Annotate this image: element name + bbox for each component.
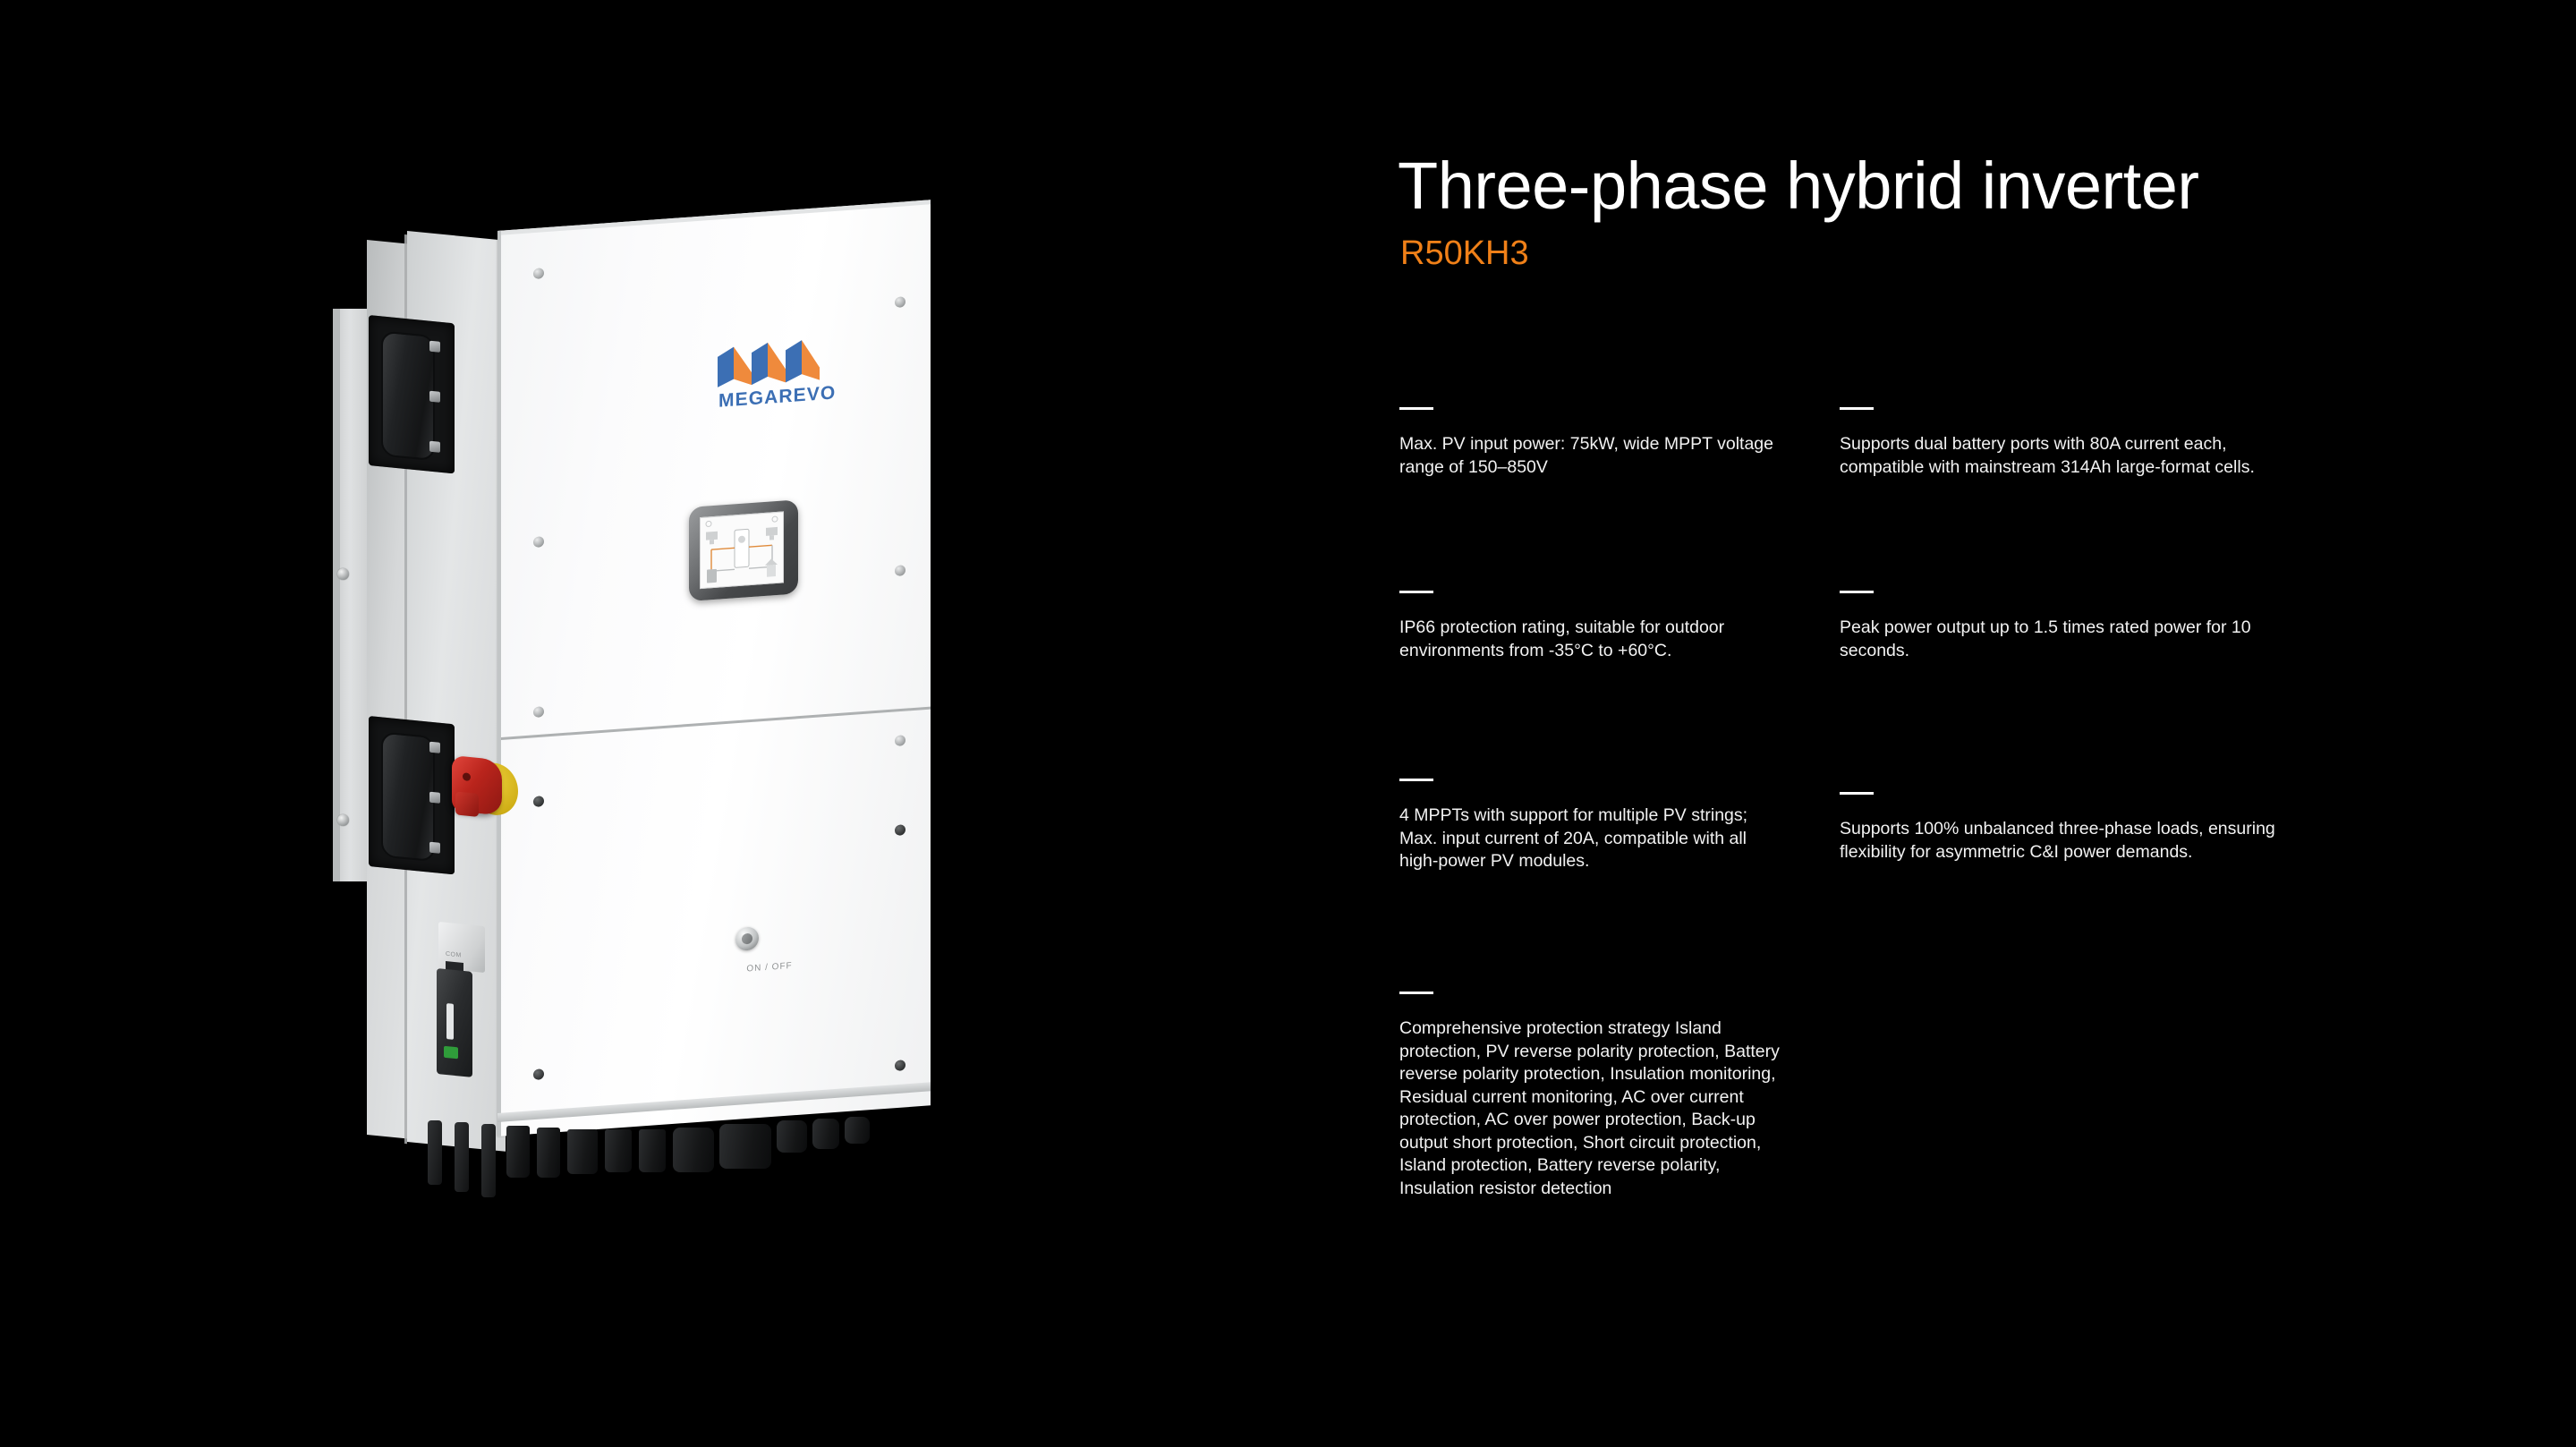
- cable-gland-large: [673, 1128, 714, 1172]
- feature-item-peak-power-output: Peak power output up to 1.5 times rated …: [1840, 591, 2296, 662]
- system-diagram-icon: [701, 512, 783, 588]
- feature-text: Peak power output up to 1.5 times rated …: [1840, 617, 2296, 662]
- handle-screw: [429, 391, 440, 403]
- carry-handle-lower: [369, 716, 455, 874]
- cable-gland: [506, 1126, 530, 1178]
- feature-item-dual-battery-ports: Supports dual battery ports with 80A cur…: [1840, 407, 2296, 479]
- handle-screw: [429, 792, 440, 804]
- lcd-display-screen: [700, 511, 784, 589]
- cable-gland: [639, 1129, 666, 1172]
- isolator-knob[interactable]: [452, 755, 502, 815]
- com-port-label: COM: [446, 951, 462, 959]
- enclosure-front-panel: [497, 200, 931, 1136]
- feature-text: Supports dual battery ports with 80A cur…: [1840, 433, 2296, 479]
- cable-gland: [567, 1129, 598, 1174]
- mc4-connector: [428, 1120, 442, 1185]
- power-button-inner: [742, 933, 752, 945]
- cable-gland-row: [421, 1113, 957, 1221]
- cable-gland: [845, 1117, 870, 1144]
- handle-screw: [429, 842, 440, 854]
- flange-bolt: [337, 814, 349, 826]
- dc-isolator-switch[interactable]: [452, 752, 516, 828]
- feature-divider: [1399, 992, 1433, 994]
- feature-divider: [1840, 591, 1874, 593]
- megarevo-logo: MEGAREVO: [716, 336, 841, 414]
- handle-screw: [429, 742, 440, 753]
- feature-item-unbalanced-loads: Supports 100% unbalanced three-phase loa…: [1840, 792, 2296, 864]
- cable-gland: [537, 1128, 560, 1178]
- isolator-lever: [455, 791, 479, 817]
- handle-screw: [429, 441, 440, 453]
- feature-divider: [1399, 591, 1433, 593]
- handle-screw: [429, 341, 440, 353]
- feature-item-ip66-protection: IP66 protection rating, suitable for out…: [1399, 591, 1786, 662]
- feature-item-pv-input-power: Max. PV input power: 75kW, wide MPPT vol…: [1399, 407, 1786, 479]
- feature-text: Max. PV input power: 75kW, wide MPPT vol…: [1399, 433, 1786, 479]
- handle-grip: [381, 330, 435, 461]
- product-image: MEGAREVO: [0, 0, 1378, 1447]
- status-led-indicator: [444, 1046, 458, 1060]
- cable-gland: [605, 1129, 632, 1172]
- feature-divider: [1399, 779, 1433, 781]
- feature-text: Comprehensive protection strategy Island…: [1399, 1017, 1786, 1200]
- mc4-connector: [481, 1124, 496, 1197]
- cable-gland: [812, 1119, 839, 1149]
- content-pane: Three-phase hybrid inverter R50KH3 Max. …: [1378, 0, 2576, 1447]
- handle-grip: [381, 731, 435, 862]
- feature-list: Max. PV input power: 75kW, wide MPPT vol…: [1378, 0, 2576, 1447]
- feature-divider: [1840, 792, 1874, 795]
- cable-gland-large: [719, 1124, 771, 1169]
- feature-item-four-mppts: 4 MPPTs with support for multiple PV str…: [1399, 779, 1786, 873]
- feature-text: 4 MPPTs with support for multiple PV str…: [1399, 804, 1786, 873]
- feature-item-protection-strategy: Comprehensive protection strategy Island…: [1399, 992, 1786, 1200]
- com-module-slot: [446, 1003, 454, 1040]
- com-module: [437, 968, 472, 1077]
- mc4-connector: [455, 1122, 469, 1192]
- enclosure-front-seam: [497, 231, 501, 1136]
- carry-handle-upper: [369, 315, 455, 473]
- mounting-flange-edge: [333, 309, 340, 881]
- flange-bolt: [337, 568, 349, 580]
- isolator-lock-hole: [463, 772, 471, 781]
- feature-text: Supports 100% unbalanced three-phase loa…: [1840, 818, 2296, 864]
- feature-text: IP66 protection rating, suitable for out…: [1399, 617, 1786, 662]
- feature-divider: [1399, 407, 1433, 410]
- lcd-display-bezel: [689, 499, 798, 601]
- feature-divider: [1840, 407, 1874, 410]
- cable-gland: [777, 1120, 807, 1153]
